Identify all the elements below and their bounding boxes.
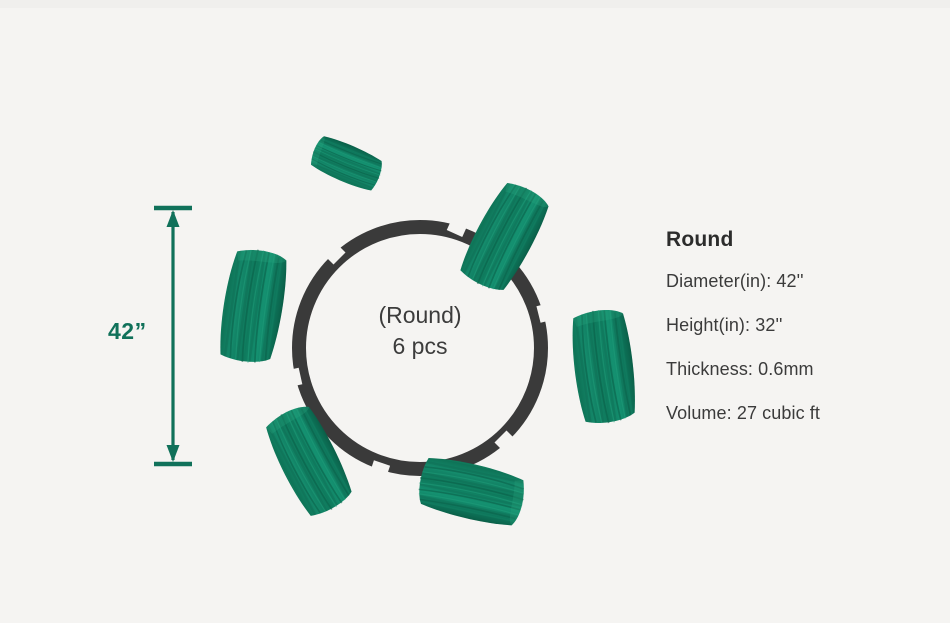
ring-center-label: (Round) 6 pcs xyxy=(320,300,520,362)
spec-volume: Volume: 27 cubic ft xyxy=(666,403,936,424)
panel-5 xyxy=(259,400,359,521)
ring-center-line-1: (Round) xyxy=(320,300,520,331)
spec-height: Height(in): 32'' xyxy=(666,315,936,336)
diagram-canvas: 42” (Round) 6 pcs Round Diameter(in): 42… xyxy=(0,0,950,623)
ring-center-line-2: 6 pcs xyxy=(320,331,520,362)
panel-1 xyxy=(307,133,387,194)
spec-diameter: Diameter(in): 42'' xyxy=(666,271,936,292)
panel-4 xyxy=(414,454,529,529)
dimension-line-42in xyxy=(154,208,192,464)
specs-title: Round xyxy=(666,228,936,252)
panel-6 xyxy=(216,246,290,366)
dimension-label: 42” xyxy=(108,318,147,345)
specs-panel: Round Diameter(in): 42'' Height(in): 32'… xyxy=(666,228,936,424)
panel-3 xyxy=(567,306,641,426)
spec-thickness: Thickness: 0.6mm xyxy=(666,359,936,380)
